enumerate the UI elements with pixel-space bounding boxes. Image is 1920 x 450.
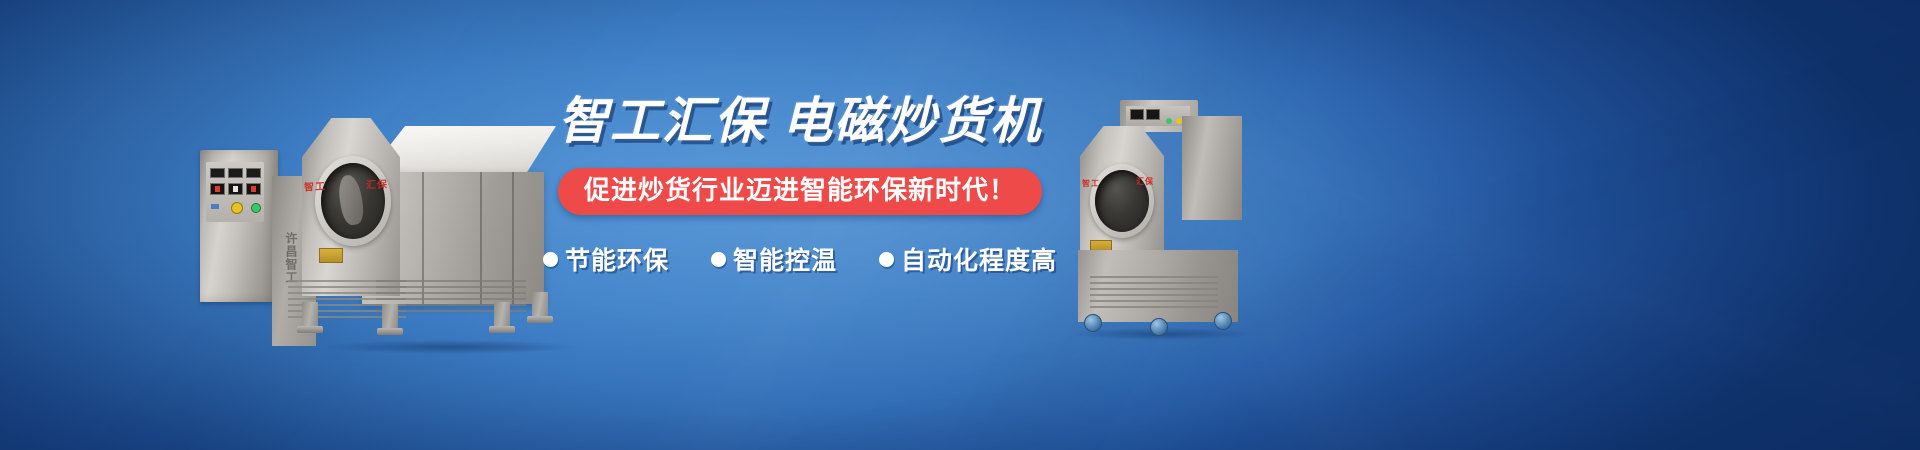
feature-item: 节能环保 [543,241,669,277]
left-machine-foot [377,328,403,335]
emergency-knob-icon [231,202,243,214]
filled-circle-bullet-icon [711,252,726,267]
left-machine-ground-shadow [326,340,576,354]
right-machine-control-panel [1126,106,1190,126]
left-machine-brand-mark-1: 智工 [304,177,326,193]
left-machine-drum-opening [315,156,391,246]
banner-feature-list: 节能环保 智能控温 自动化程度高 [543,241,1057,277]
right-machine-caster-wheel [1214,312,1232,330]
right-machine-caster-wheel [1150,318,1168,336]
banner-text-block: 智工汇保 电磁炒货机 促进炒货行业迈进智能环保新时代！ 节能环保 智能控温 自动… [540,96,1060,356]
left-machine-foot [489,326,515,333]
digital-display-icon [246,183,261,195]
green-button-icon [251,203,261,213]
green-button-icon [1166,118,1172,124]
right-machine-vent-grille [1090,276,1218,310]
drum-interior [321,163,385,239]
indicator-lamp-icon [246,168,261,178]
feature-item: 自动化程度高 [879,241,1057,277]
feature-item: 智能控温 [711,241,837,277]
right-machine-brand-mark-2: 汇保 [1136,176,1154,187]
digital-display-icon [1146,109,1160,120]
indicator-lamp-icon [228,168,243,178]
left-machine-control-cabinet [200,150,278,302]
drum-paddle [336,174,365,227]
digital-display-icon [228,183,243,195]
blue-switch-icon [211,204,219,209]
feature-label: 自动化程度高 [901,241,1057,277]
feature-label: 节能环保 [565,241,669,277]
banner-headline: 智工汇保 电磁炒货机 [558,96,1042,146]
feature-label: 智能控温 [733,241,837,277]
filled-circle-bullet-icon [543,252,558,267]
filled-circle-bullet-icon [879,252,894,267]
right-machine-brand-mark-1: 智工 [1082,178,1100,189]
left-machine-side-brand-text: 许昌智工 [279,232,297,284]
right-machine-caster-wheel [1084,314,1102,332]
product-image-right-machine: 智工 汇保 [1032,100,1248,350]
left-machine-leg [494,302,510,328]
left-machine-leg [382,304,398,330]
right-machine-upper-panel [1182,116,1242,220]
left-machine-brand-mark-2: 汇保 [366,176,388,192]
left-machine-leg [302,302,318,328]
left-machine-control-panel [206,162,264,222]
left-machine-foot [297,326,323,333]
indicator-lamp-icon [210,168,225,178]
banner-subtitle-pill: 促进炒货行业迈进智能环保新时代！ [558,168,1042,215]
product-image-left-machine: 许昌智工 智工 汇保 [176,104,568,348]
promo-banner: 许昌智工 智工 汇保 智工汇保 电磁炒货机 [0,0,1920,450]
digital-display-icon [1130,109,1144,120]
left-machine-name-plate [319,248,343,263]
banner-subtitle-text: 促进炒货行业迈进智能环保新时代！ [584,175,1016,205]
digital-display-icon [210,183,225,195]
